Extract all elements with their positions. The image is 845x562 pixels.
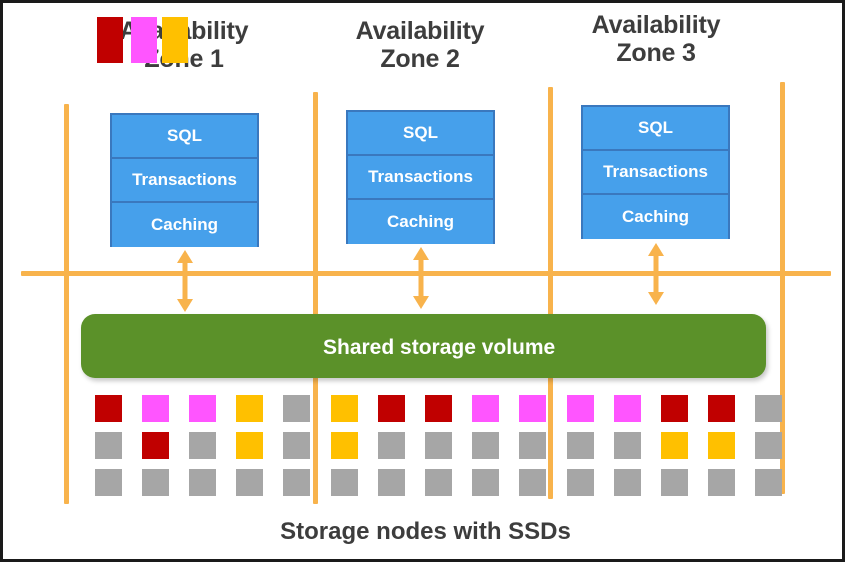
storage-node-gold [661, 432, 688, 459]
db-layer-sql[interactable]: SQL [583, 107, 728, 151]
storage-node-gray [283, 432, 310, 459]
storage-node-gold [236, 432, 263, 459]
storage-node-red [708, 395, 735, 422]
storage-node-gray [189, 469, 216, 496]
storage-node-gold [331, 395, 358, 422]
db-layer-sql[interactable]: SQL [348, 112, 493, 156]
storage-node-gray [425, 469, 452, 496]
storage-node-magenta [472, 395, 499, 422]
storage-node-gray [472, 469, 499, 496]
db-layer-transactions[interactable]: Transactions [348, 156, 493, 200]
storage-node-gold [236, 395, 263, 422]
storage-node-gray [472, 432, 499, 459]
db-layer-caching[interactable]: Caching [112, 203, 257, 247]
zone-title-2: Availability Zone 2 [325, 17, 515, 73]
storage-node-gray [708, 469, 735, 496]
storage-node-gold [331, 432, 358, 459]
storage-node-gray [142, 469, 169, 496]
replication-arrow-zone-3 [643, 243, 669, 305]
storage-node-gray [614, 432, 641, 459]
storage-node-gray [755, 395, 782, 422]
storage-node-gold [708, 432, 735, 459]
zone-divider-1-2 [313, 92, 318, 504]
diagram-caption: Storage nodes with SSDs [3, 518, 845, 546]
db-layer-caching[interactable]: Caching [583, 195, 728, 239]
db-layer-transactions[interactable]: Transactions [112, 159, 257, 203]
storage-node-gray [661, 469, 688, 496]
storage-node-gray [189, 432, 216, 459]
storage-node-gray [95, 469, 122, 496]
db-layer-sql[interactable]: SQL [112, 115, 257, 159]
storage-node-red [378, 395, 405, 422]
storage-node-magenta [519, 395, 546, 422]
storage-node-red [142, 432, 169, 459]
storage-node-gray [331, 469, 358, 496]
storage-node-gray [519, 432, 546, 459]
db-stack-zone-2[interactable]: SQL Transactions Caching [346, 110, 495, 244]
storage-node-gray [236, 469, 263, 496]
volume-chunk-red [97, 17, 123, 63]
db-layer-transactions[interactable]: Transactions [583, 151, 728, 195]
zone-divider-2-3 [548, 87, 553, 499]
replication-arrow-zone-2 [408, 247, 434, 309]
storage-node-magenta [142, 395, 169, 422]
db-stack-zone-3[interactable]: SQL Transactions Caching [581, 105, 730, 239]
storage-node-gray [378, 432, 405, 459]
storage-node-gray [567, 432, 594, 459]
storage-node-red [661, 395, 688, 422]
storage-node-gray [95, 432, 122, 459]
db-layer-caching[interactable]: Caching [348, 200, 493, 244]
storage-node-magenta [614, 395, 641, 422]
storage-node-magenta [567, 395, 594, 422]
shared-storage-volume-label: Shared storage volume [323, 336, 555, 360]
storage-node-gray [283, 395, 310, 422]
storage-node-magenta [189, 395, 216, 422]
storage-node-gray [567, 469, 594, 496]
zone-title-3: Availability Zone 3 [561, 11, 751, 67]
volume-chunk-magenta [131, 17, 157, 63]
db-stack-zone-1[interactable]: SQL Transactions Caching [110, 113, 259, 247]
storage-node-gray [425, 432, 452, 459]
storage-node-gray [755, 432, 782, 459]
storage-node-gray [519, 469, 546, 496]
storage-node-gray [283, 469, 310, 496]
volume-chunk-gold [162, 17, 188, 63]
diagram-canvas: Availability Zone 1 Availability Zone 2 … [0, 0, 845, 562]
storage-node-gray [378, 469, 405, 496]
replication-arrow-zone-1 [172, 250, 198, 312]
storage-node-red [95, 395, 122, 422]
storage-node-gray [614, 469, 641, 496]
storage-node-gray [755, 469, 782, 496]
storage-node-red [425, 395, 452, 422]
zone-divider-left [64, 104, 69, 504]
